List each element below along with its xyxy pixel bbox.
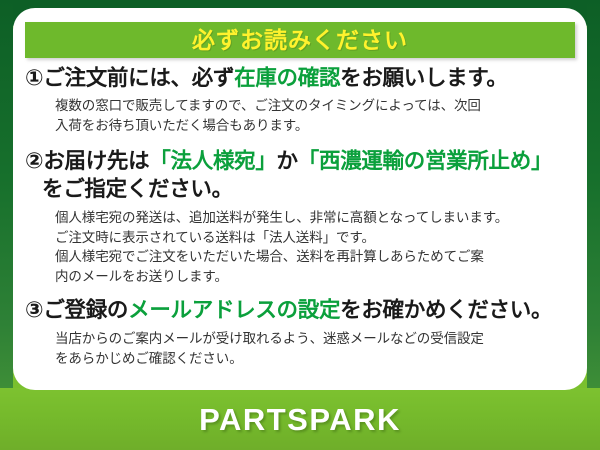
brand-name: PARTSPARK xyxy=(199,404,401,435)
notice-1-text-b: をお願いします。 xyxy=(340,66,507,90)
left-border-rail xyxy=(0,0,13,450)
notice-3-headline: ③ご登録のメールアドレスの設定をお確かめください。 xyxy=(25,296,577,325)
notice-2-text-a: お届け先は xyxy=(43,149,149,173)
right-border-rail xyxy=(587,0,600,450)
notice-item-2: ②お届け先は「法人様宛」か「西濃運輸の営業所止め」 をご指定ください。 個人様宅… xyxy=(25,147,577,286)
notice-2-highlight-b: 「西濃運輸の営業所止め」 xyxy=(298,149,552,173)
notice-item-3: ③ご登録のメールアドレスの設定をお確かめください。 当店からのご案内メールが受け… xyxy=(25,296,577,368)
notice-3-body-line-1: 当店からのご案内メールが受け取れるよう、迷惑メールなどの受信設定 xyxy=(55,329,577,349)
notice-1-body-line-2: 入荷をお待ち頂いただく場合もあります。 xyxy=(55,116,577,136)
notice-2-body-line-1: 個人様宅宛の発送は、追加送料が発生し、非常に高額となってしまいます。 xyxy=(55,208,577,228)
notice-1-highlight: 在庫の確認 xyxy=(234,66,340,90)
header-band: 必ずお読みください xyxy=(25,22,575,58)
notice-1-number: ① xyxy=(25,65,43,90)
notice-2-number: ② xyxy=(25,148,43,173)
notice-2-body-line-2: ご注文時に表示されている送料は「法人送料」です。 xyxy=(55,228,577,248)
notice-1-body-line-1: 複数の窓口で販売してますので、ご注文のタイミングによっては、次回 xyxy=(55,96,577,116)
notice-2-body-line-4: 内のメールをお送りします。 xyxy=(55,267,577,287)
notice-1-body: 複数の窓口で販売してますので、ご注文のタイミングによっては、次回 入荷をお待ち頂… xyxy=(25,93,577,135)
notice-2-body: 個人様宅宛の発送は、追加送料が発生し、非常に高額となってしまいます。 ご注文時に… xyxy=(25,204,577,286)
brand-logo: PARTSPARK xyxy=(0,388,600,450)
notice-1-headline: ①ご注文前には、必ず在庫の確認をお願いします。 xyxy=(25,64,577,93)
notice-list: ①ご注文前には、必ず在庫の確認をお願いします。 複数の窓口で販売してますので、ご… xyxy=(13,64,587,370)
notice-3-body-line-2: をあらかじめご確認ください。 xyxy=(55,349,577,369)
notice-2-text-b: か xyxy=(277,149,298,173)
notice-3-body: 当店からのご案内メールが受け取れるよう、迷惑メールなどの受信設定 をあらかじめご… xyxy=(25,325,577,368)
notice-3-highlight: メールアドレスの設定 xyxy=(128,298,340,322)
notice-card: 必ずお読みください ①ご注文前には、必ず在庫の確認をお願いします。 複数の窓口で… xyxy=(13,8,587,390)
notice-2-highlight-a: 「法人様宛」 xyxy=(149,149,276,173)
notice-2-body-line-3: 個人様宅宛でご注文をいただいた場合、送料を再計算しあらためてご案 xyxy=(55,247,577,267)
notice-3-text-a: ご登録の xyxy=(43,298,128,322)
notice-banner: 必ずお読みください ①ご注文前には、必ず在庫の確認をお願いします。 複数の窓口で… xyxy=(0,0,600,450)
notice-3-number: ③ xyxy=(25,297,43,322)
page-title: 必ずお読みください xyxy=(192,29,408,52)
notice-1-text-a: ご注文前には、必ず xyxy=(43,66,234,90)
notice-3-text-b: をお確かめください。 xyxy=(340,298,552,322)
notice-item-1: ①ご注文前には、必ず在庫の確認をお願いします。 複数の窓口で販売してますので、ご… xyxy=(25,64,577,135)
notice-2-headline: ②お届け先は「法人様宛」か「西濃運輸の営業所止め」 xyxy=(25,147,577,176)
notice-2-headline-line2: をご指定ください。 xyxy=(25,176,577,204)
